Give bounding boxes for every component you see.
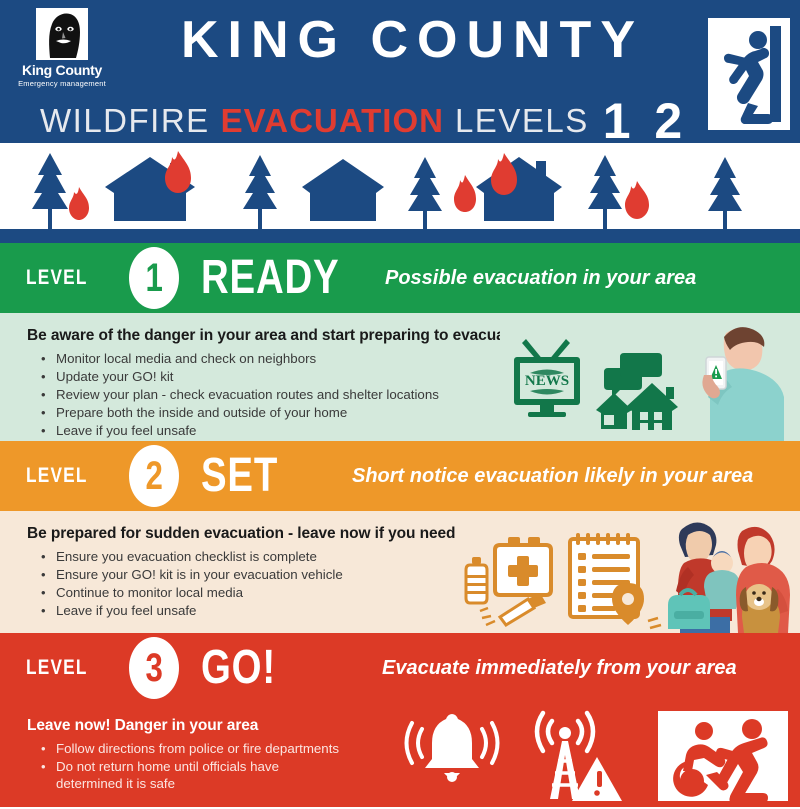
level-2-bullets: Ensure you evacuation checklist is compl… [36, 549, 343, 621]
level-3-heading: Leave now! Danger in your area [27, 717, 258, 735]
level-3-bullets: Follow directions from police or fire de… [36, 741, 339, 794]
list-item: Ensure you evacuation checklist is compl… [54, 549, 343, 566]
accessible-exit-icon [658, 711, 788, 803]
list-item: Ensure your GO! kit is in your evacuatio… [54, 567, 343, 584]
level-3-body: Leave now! Danger in your area Follow di… [0, 703, 800, 807]
level-3-title: GO! [201, 644, 276, 692]
list-item: Monitor local media and check on neighbo… [54, 351, 439, 368]
level-1-number-badge: 1 [129, 247, 179, 309]
list-item: Prepare both the inside and outside of y… [54, 405, 439, 422]
water-bottle-icon [466, 557, 487, 603]
level-1-word: LEVEL [26, 266, 88, 290]
level-2-number: 2 [146, 456, 163, 496]
level-3-band: LEVEL 3 GO! Evacuate immediately from yo… [0, 633, 800, 703]
wildfire-scene-band [0, 143, 800, 243]
level-1-band: LEVEL 1 READY Possible evacuation in you… [0, 243, 800, 313]
level-3-tagline: Evacuate immediately from your area [382, 657, 737, 680]
level-2-illustration [460, 511, 800, 633]
level-3-word: LEVEL [26, 656, 88, 680]
mlk-portrait-icon [36, 8, 88, 60]
level-1-title: READY [201, 254, 339, 302]
level-2-band: LEVEL 2 SET Short notice evacuation like… [0, 441, 800, 511]
subtitle-numbers: 1 2 3 [603, 92, 690, 143]
level-3-number-badge: 3 [129, 637, 179, 699]
subtitle-evacuation: EVACUATION [221, 102, 444, 140]
level-1-bullets: Monitor local media and check on neighbo… [36, 351, 439, 441]
list-item: Leave if you feel unsafe [54, 423, 439, 440]
king-county-logo: King County Emergency management [12, 8, 112, 88]
list-item: Do not return home until officials have … [54, 759, 306, 792]
level-2-title: SET [201, 452, 278, 500]
poster-header: King County Emergency management KING CO… [0, 0, 800, 143]
level-1-illustration: NEWS [500, 313, 800, 441]
page-title: KING COUNTY [140, 14, 685, 66]
level-3-number: 3 [146, 648, 163, 688]
first-aid-kit-icon [495, 537, 551, 595]
level-2-word: LEVEL [26, 464, 88, 488]
subtitle-row: WILDFIRE EVACUATION LEVELS 1 2 3 [40, 86, 690, 143]
running-exit-icon [708, 18, 790, 130]
level-1-heading: Be aware of the danger in your area and … [27, 327, 518, 345]
list-item: Update your GO! kit [54, 369, 439, 386]
level-2-body: Be prepared for sudden evacuation - leav… [0, 511, 800, 633]
logo-name: King County [12, 63, 112, 78]
tv-news-label: NEWS [525, 373, 569, 389]
evacuation-levels-infographic: King County Emergency management KING CO… [0, 0, 800, 809]
list-item: Review your plan - check evacuation rout… [54, 387, 439, 404]
level-1-body: Be aware of the danger in your area and … [0, 313, 800, 441]
level-2-heading: Be prepared for sudden evacuation - leav… [27, 525, 532, 543]
list-item: Leave if you feel unsafe [54, 603, 343, 620]
level-2-tagline: Short notice evacuation likely in your a… [352, 465, 753, 488]
level-1-number: 1 [146, 258, 163, 298]
level-1-tagline: Possible evacuation in your area [385, 267, 696, 290]
list-item: Continue to monitor local media [54, 585, 343, 602]
subtitle-wildfire: WILDFIRE [40, 102, 210, 140]
level-2-number-badge: 2 [129, 445, 179, 507]
list-item: Follow directions from police or fire de… [54, 741, 339, 758]
level-3-illustration [400, 703, 800, 807]
subtitle-levels: LEVELS [455, 102, 589, 140]
